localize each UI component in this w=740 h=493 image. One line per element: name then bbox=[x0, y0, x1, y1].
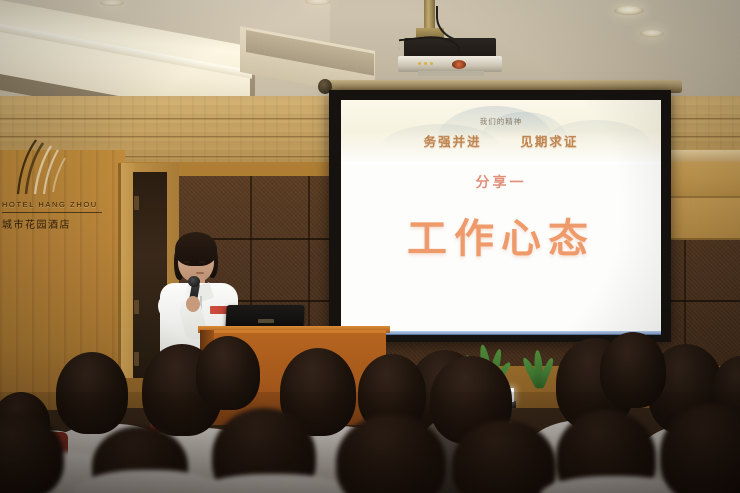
audience-head bbox=[0, 414, 64, 493]
projector-led-icon bbox=[424, 62, 427, 65]
projector-led-icon bbox=[418, 62, 421, 65]
slide-motto: 务强并进 见期求证 bbox=[341, 131, 661, 150]
slide-subtitle: 分享一 bbox=[341, 172, 661, 192]
projector-foot bbox=[418, 71, 484, 76]
downlight-icon bbox=[614, 6, 644, 15]
presenter-hair bbox=[175, 232, 217, 266]
projector-led-icon bbox=[430, 62, 433, 65]
projection-screen-surface: 我们的精神 务强并进 见期求证 分享一 工作心态 bbox=[341, 100, 661, 334]
hotel-logo-chinese: 城市花园酒店 bbox=[2, 216, 106, 231]
hotel-logo-english: HOTEL HANG ZHOU bbox=[2, 200, 106, 209]
hotel-logo-divider bbox=[2, 212, 102, 213]
audience-head bbox=[600, 332, 666, 408]
downlight-icon bbox=[100, 0, 124, 6]
slide-motto-right: 见期求证 bbox=[520, 134, 578, 149]
potted-plant bbox=[520, 350, 560, 388]
door-hinge-icon bbox=[134, 196, 139, 210]
audience-head bbox=[196, 336, 260, 410]
presenter-eye bbox=[199, 261, 205, 263]
audience-head bbox=[56, 352, 128, 434]
microphone-head-icon[interactable] bbox=[188, 276, 200, 287]
presenter-mouth bbox=[196, 272, 204, 274]
laptop-brand-logo-icon bbox=[258, 319, 274, 323]
projector-lens-icon bbox=[452, 60, 466, 69]
door-hinge-icon bbox=[134, 300, 139, 314]
slide-title: 工作心态 bbox=[341, 206, 661, 264]
door-hinge-icon bbox=[134, 352, 139, 366]
presenter-hand bbox=[186, 296, 200, 312]
downlight-icon bbox=[640, 30, 664, 37]
slide-kicker-text: 我们的精神 bbox=[341, 116, 661, 127]
flame-swoosh-mark-icon bbox=[10, 138, 70, 196]
hotel-logo: HOTEL HANG ZHOU 城市花园酒店 bbox=[2, 138, 106, 238]
slide-motto-left: 务强并进 bbox=[424, 134, 482, 149]
presenter-eye bbox=[184, 261, 190, 263]
projector-base bbox=[398, 56, 502, 72]
conference-room-photo: HOTEL HANG ZHOU 城市花园酒店 我们的精神 务强并进 见期求证 分… bbox=[0, 0, 740, 493]
